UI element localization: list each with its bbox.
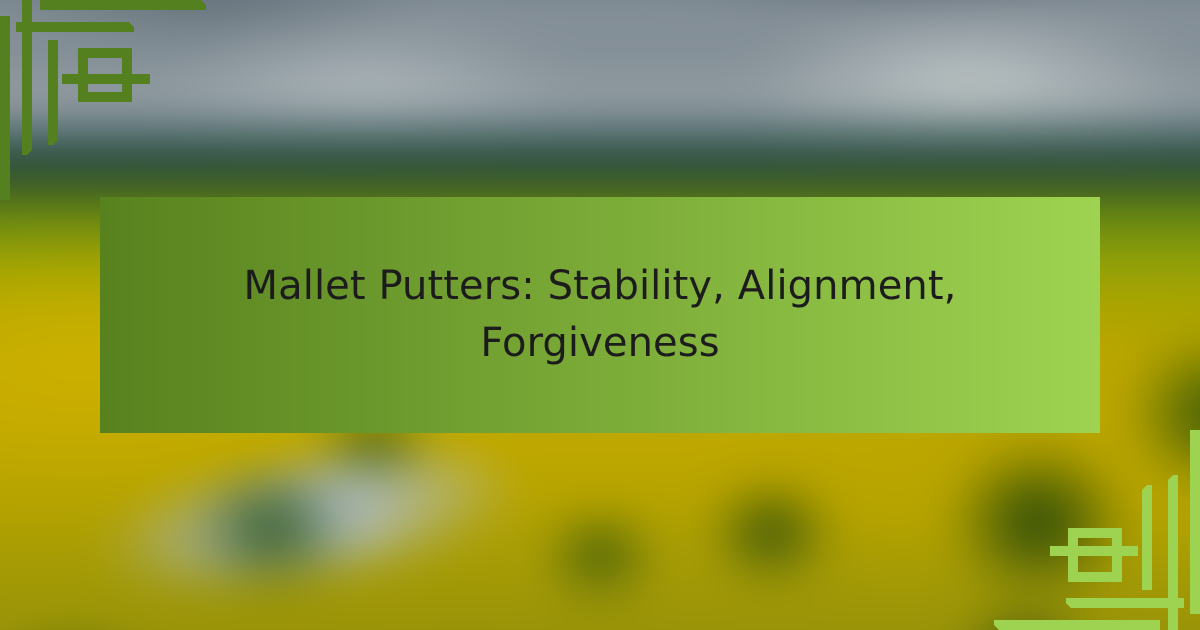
page-title: Mallet Putters: Stability, Alignment, Fo… <box>156 258 1044 372</box>
tree-cluster <box>189 467 353 589</box>
social-card: Mallet Putters: Stability, Alignment, Fo… <box>0 0 1200 630</box>
tree-cluster <box>710 482 833 581</box>
tree-cluster <box>942 437 1134 604</box>
title-banner: Mallet Putters: Stability, Alignment, Fo… <box>100 197 1100 433</box>
tree-cluster <box>545 513 655 597</box>
